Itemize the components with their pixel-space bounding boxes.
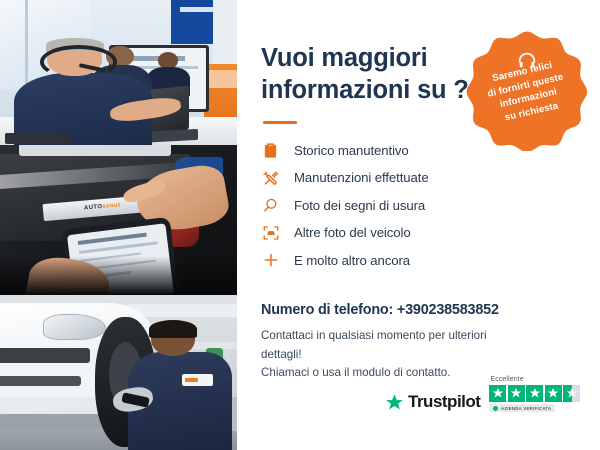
magnifier-icon [261, 196, 280, 215]
title-underline [263, 121, 297, 124]
star-filled-4 [545, 385, 562, 402]
photo-shadow [0, 256, 237, 295]
info-badge: Saremo felici di fornirti queste informa… [466, 29, 588, 151]
uniform-logo [182, 374, 213, 386]
foreground-operator [14, 38, 151, 145]
grille-lower [0, 376, 81, 387]
trustpilot-star-icon [385, 393, 404, 412]
list-item: Altre foto del veicolo [261, 219, 578, 247]
list-item-label: Foto dei segni di usura [294, 198, 425, 213]
page-title-line-1: Vuoi maggiori [261, 44, 427, 72]
trustpilot-widget[interactable]: Trustpilot Eccellente AZIENDA VERIFICATA [385, 376, 580, 413]
feature-list: Storico manutentivo Manutenzioni effettu… [261, 136, 578, 274]
list-item-label: Storico manutentivo [294, 143, 409, 158]
list-item-label: Altre foto del veicolo [294, 225, 411, 240]
phone-number[interactable]: Numero di telefono: +390238583852 [261, 302, 578, 318]
page-title-line-2: informazioni su ? [261, 76, 469, 104]
page-title: Vuoi maggiori informazioni su ? [261, 42, 476, 106]
white-ceiling-strip [19, 145, 171, 156]
trustpilot-logo: Trustpilot [385, 392, 480, 412]
headlight [43, 314, 107, 341]
list-item: E molto altro ancora [261, 246, 578, 274]
grille-upper [0, 348, 90, 364]
operator-headset-icon [40, 45, 117, 79]
star-filled-2 [508, 385, 525, 402]
list-item-label: Manutenzioni effettuate [294, 170, 429, 185]
star-filled-1 [489, 385, 506, 402]
list-item: Manutenzioni effettuate [261, 164, 578, 192]
plus-icon [261, 251, 280, 270]
photo-column: AUTOscout [0, 0, 237, 450]
trustpilot-rating: Eccellente AZIENDA VERIFICATA [489, 376, 580, 413]
star-half-5 [563, 385, 580, 402]
promo-panel: AUTOscout [0, 0, 600, 450]
rating-label: Eccellente [490, 376, 523, 383]
call-centre-photo [0, 0, 237, 145]
tools-cross-icon [261, 168, 280, 187]
star-rating [489, 385, 580, 402]
info-panel: Vuoi maggiori informazioni su ? Storico … [237, 0, 600, 450]
car-frame-icon [261, 223, 280, 242]
verified-label: AZIENDA VERIFICATA [501, 406, 551, 411]
star-filled-3 [526, 385, 543, 402]
clipboard-check-icon [261, 141, 280, 160]
mechanic-wheel-photo [0, 295, 237, 450]
mechanic [128, 320, 232, 450]
list-item: Foto dei segni di usura [261, 191, 578, 219]
desk-tray [5, 133, 71, 143]
verified-check-icon [493, 406, 498, 411]
vehicle-inspection-photo: AUTOscout [0, 145, 237, 295]
verified-business-badge: AZIENDA VERIFICATA [489, 404, 555, 412]
trustpilot-brand: Trustpilot [408, 392, 480, 412]
list-item-label: E molto altro ancora [294, 253, 410, 268]
contact-description-line-1: Contattaci in qualsiasi momento per ulte… [261, 329, 487, 361]
